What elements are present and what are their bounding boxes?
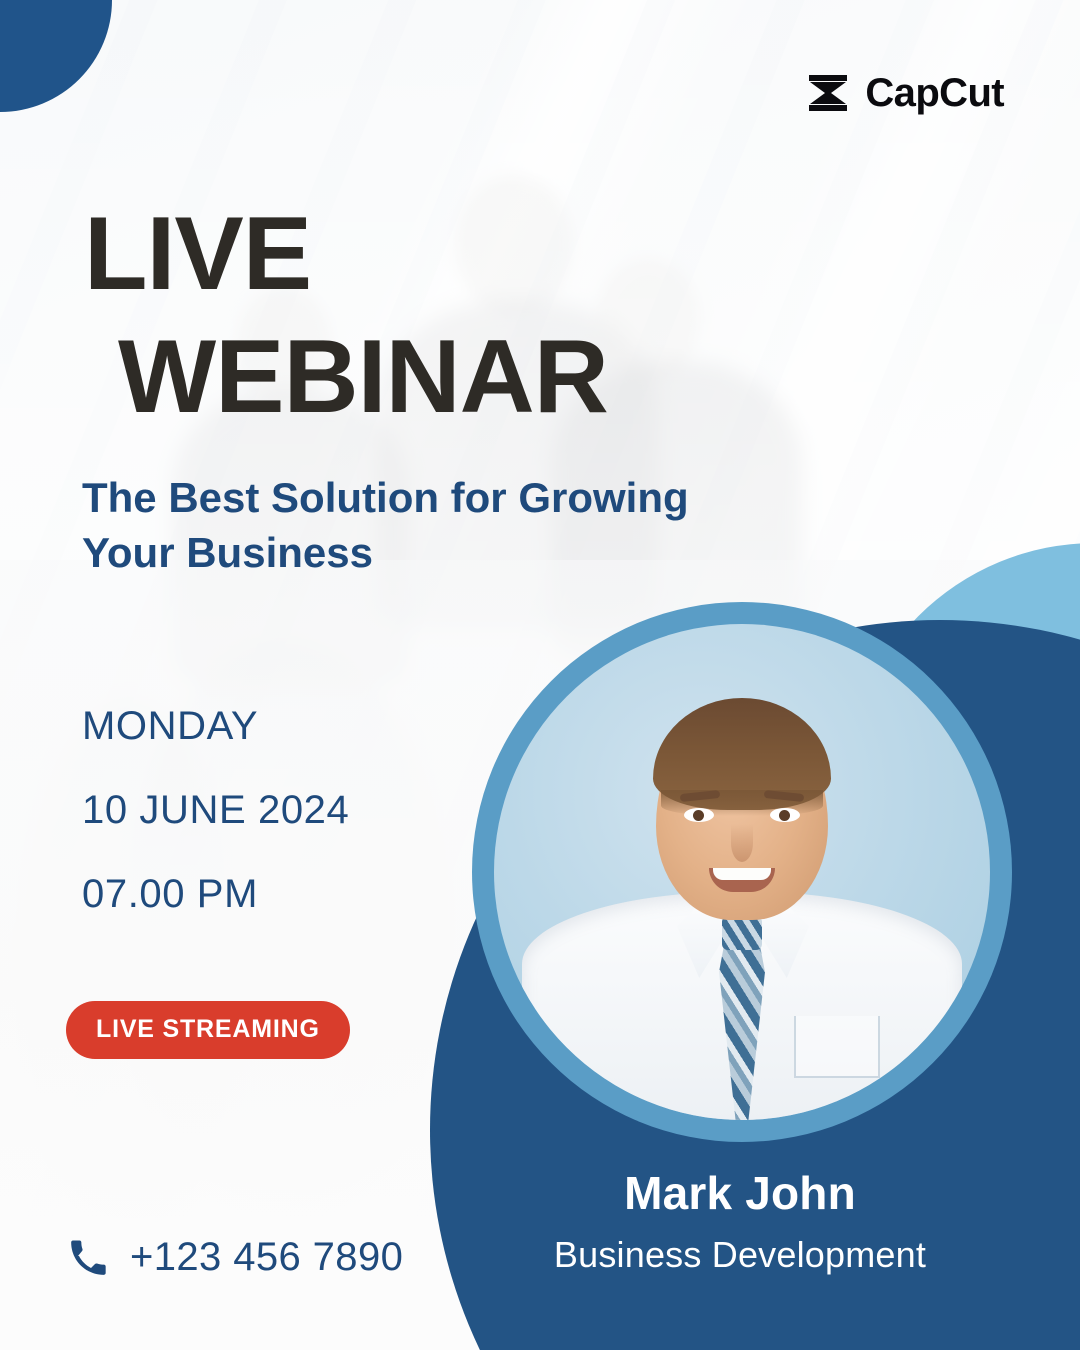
contact-info[interactable]: +123 456 7890 [68,1235,403,1280]
avatar [494,624,990,1120]
event-day: MONDAY [82,706,349,746]
event-date: 10 JUNE 2024 [82,790,349,830]
capcut-logo-icon [805,72,851,114]
subtitle-line-2: Your Business [82,529,373,576]
headline-line-2: WEBINAR [118,316,608,439]
phone-icon [68,1238,108,1278]
portrait-teeth [713,868,771,880]
portrait-hair [653,698,831,810]
subtitle-line-1: The Best Solution for Growing [82,474,689,521]
phone-number: +123 456 7890 [130,1235,403,1280]
event-time: 07.00 PM [82,874,349,914]
subtitle: The Best Solution for Growing Your Busin… [82,470,689,581]
capcut-logo-text: CapCut [865,73,1004,113]
speaker-role: Business Development [470,1235,1010,1275]
portrait-tie-knot [722,916,762,950]
portrait-shirt-pocket [794,1016,880,1078]
capcut-logo[interactable]: CapCut [805,72,1004,114]
status-badge[interactable]: LIVE STREAMING [66,1001,350,1059]
speaker-name: Mark John [470,1168,1010,1219]
webinar-poster: CapCut LIVE WEBINAR The Best Solution fo… [0,0,1080,1350]
page-title: LIVE WEBINAR [84,193,608,438]
portrait-eye-left [684,808,714,822]
headline-line-1: LIVE [84,196,311,312]
speaker-info: Mark John Business Development [470,1168,1010,1274]
event-details: MONDAY 10 JUNE 2024 07.00 PM [82,706,349,914]
portrait-eye-right [770,808,800,822]
speaker-portrait-ring [472,602,1012,1142]
portrait-nose [731,824,753,862]
